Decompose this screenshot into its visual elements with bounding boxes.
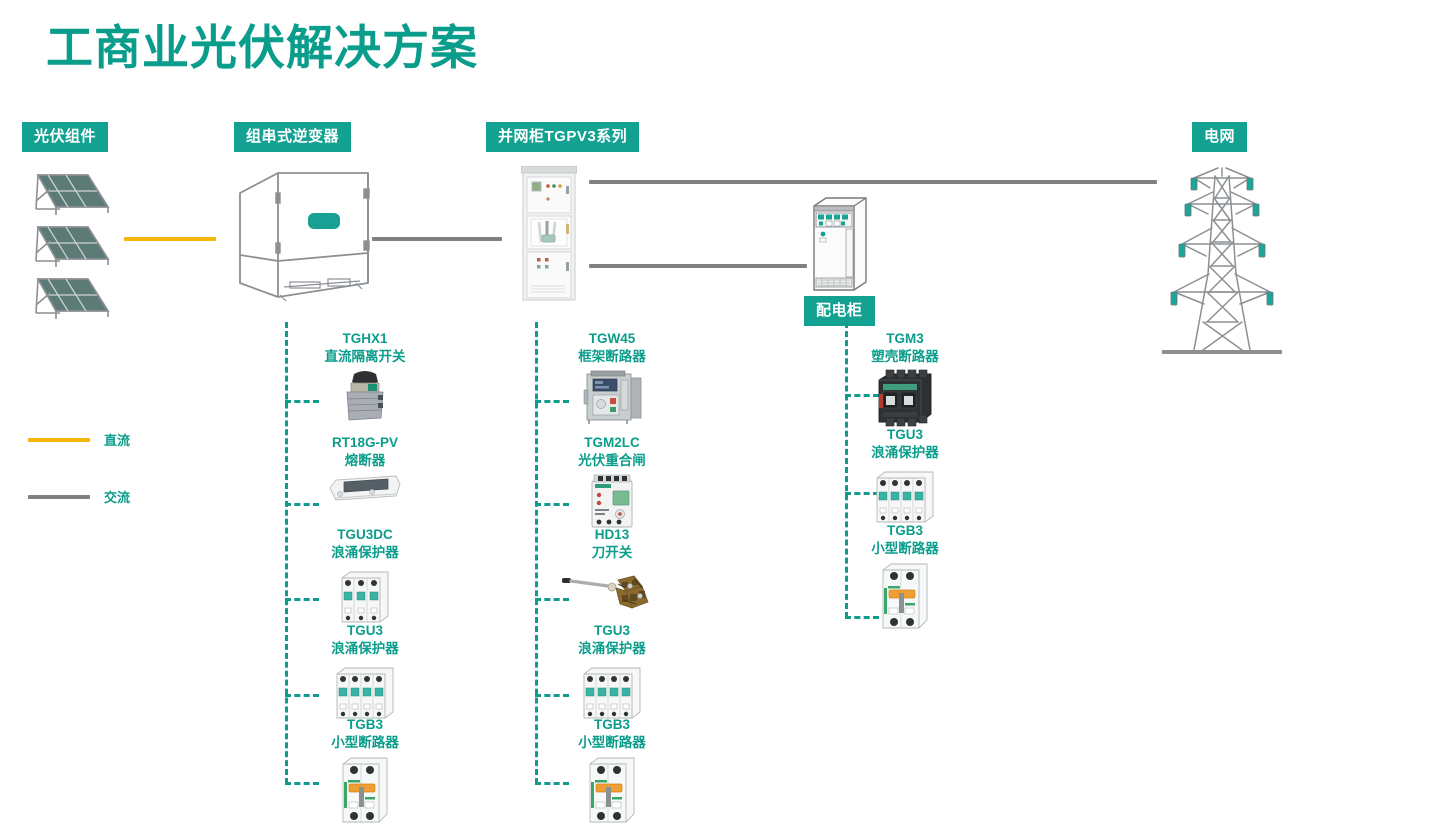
badge-power-grid: 电网 bbox=[1192, 122, 1247, 152]
inverter-icon bbox=[232, 165, 377, 305]
product-image-spd3 bbox=[280, 564, 450, 626]
transmission-tower bbox=[1160, 162, 1284, 363]
product-tgu3dc: TGU3DC 浪涌保护器 bbox=[280, 526, 450, 626]
product-tgb3: TGB3 小型断路器 bbox=[280, 716, 450, 826]
product-tgu3: TGU3 浪涌保护器 bbox=[280, 622, 450, 722]
distribution-cabinet bbox=[808, 196, 870, 297]
product-desc: 小型断路器 bbox=[820, 540, 990, 558]
product-model: RT18G-PV bbox=[280, 434, 450, 452]
product-model: TGU3 bbox=[820, 426, 990, 444]
product-desc: 小型断路器 bbox=[527, 734, 697, 752]
legend-label-ac: 交流 bbox=[104, 487, 130, 506]
product-image-spd4 bbox=[280, 660, 450, 722]
legend-label-dc: 直流 bbox=[104, 430, 130, 449]
connector-dc-pv-to-inverter bbox=[124, 237, 216, 241]
product-model: TGHX1 bbox=[280, 330, 450, 348]
product-image-mcb bbox=[280, 754, 450, 826]
product-image-spd4 bbox=[820, 464, 990, 526]
product-desc: 浪涌保护器 bbox=[280, 640, 450, 658]
connector-ac-inverter-to-gridcabinet bbox=[372, 237, 502, 241]
product-model: TGB3 bbox=[280, 716, 450, 734]
product-desc: 熔断器 bbox=[280, 452, 450, 470]
product-model: TGU3 bbox=[280, 622, 450, 640]
product-tgu3: TGU3 浪涌保护器 bbox=[527, 622, 697, 722]
product-desc: 塑壳断路器 bbox=[820, 348, 990, 366]
product-model: TGW45 bbox=[527, 330, 697, 348]
transmission-tower-icon bbox=[1160, 162, 1284, 358]
badge-string-inverter: 组串式逆变器 bbox=[234, 122, 351, 152]
product-desc: 光伏重合闸 bbox=[527, 452, 697, 470]
connector-ac-gridcabinet-to-grid bbox=[589, 180, 1157, 184]
product-tgu3: TGU3 浪涌保护器 bbox=[820, 426, 990, 526]
product-tgw45: TGW45 框架断路器 bbox=[527, 330, 697, 424]
inverter-display bbox=[308, 213, 340, 229]
product-tgm2lc: TGM2LC 光伏重合闸 bbox=[527, 434, 697, 530]
legend-swatch-dc bbox=[28, 438, 90, 442]
product-image-isolator bbox=[280, 368, 450, 426]
legend-item-dc: 直流 bbox=[28, 430, 130, 449]
product-image-fuse bbox=[280, 472, 450, 506]
legend: 直流 交流 bbox=[28, 430, 130, 506]
legend-swatch-ac bbox=[28, 495, 90, 499]
distribution-cabinet-icon bbox=[808, 196, 870, 292]
product-desc: 浪涌保护器 bbox=[527, 640, 697, 658]
badge-pv-modules: 光伏组件 bbox=[22, 122, 108, 152]
legend-item-ac: 交流 bbox=[28, 487, 130, 506]
connector-ac-gridcabinet-to-distribution bbox=[589, 264, 807, 268]
product-model: TGB3 bbox=[820, 522, 990, 540]
product-tghx1: TGHX1 直流隔离开关 bbox=[280, 330, 450, 426]
badge-grid-cabinet: 并网柜TGPV3系列 bbox=[486, 122, 639, 152]
product-image-mcb bbox=[527, 754, 697, 826]
page-title: 工商业光伏解决方案 bbox=[46, 22, 478, 74]
product-desc: 刀开关 bbox=[527, 544, 697, 562]
product-tgb3: TGB3 小型断路器 bbox=[527, 716, 697, 826]
product-hd13: HD13 刀开关 bbox=[527, 526, 697, 622]
product-model: TGB3 bbox=[527, 716, 697, 734]
product-image-recloser bbox=[527, 472, 697, 530]
product-image-mcb bbox=[820, 560, 990, 632]
product-desc: 直流隔离开关 bbox=[280, 348, 450, 366]
product-rt18g-pv: RT18G-PV 熔断器 bbox=[280, 434, 450, 506]
product-tgm3: TGM3 塑壳断路器 bbox=[820, 330, 990, 428]
product-tgb3: TGB3 小型断路器 bbox=[820, 522, 990, 632]
product-model: HD13 bbox=[527, 526, 697, 544]
string-inverter bbox=[232, 165, 377, 310]
product-model: TGU3 bbox=[527, 622, 697, 640]
product-desc: 浪涌保护器 bbox=[820, 444, 990, 462]
diagram-canvas: 工商业光伏解决方案 光伏组件 组串式逆变器 并网柜TGPV3系列 配电柜 电网 … bbox=[0, 0, 1436, 829]
pv-array-icon bbox=[22, 165, 122, 325]
product-image-mccb bbox=[820, 368, 990, 428]
grid-cabinet-icon bbox=[521, 166, 577, 302]
product-desc: 浪涌保护器 bbox=[280, 544, 450, 562]
product-image-spd4 bbox=[527, 660, 697, 722]
product-model: TGU3DC bbox=[280, 526, 450, 544]
pv-array bbox=[22, 165, 122, 330]
product-desc: 框架断路器 bbox=[527, 348, 697, 366]
product-model: TGM3 bbox=[820, 330, 990, 348]
badge-distribution-cabinet: 配电柜 bbox=[804, 296, 875, 326]
product-image-acb bbox=[527, 368, 697, 424]
grid-cabinet bbox=[521, 166, 577, 307]
product-image-knife bbox=[527, 564, 697, 622]
product-model: TGM2LC bbox=[527, 434, 697, 452]
product-desc: 小型断路器 bbox=[280, 734, 450, 752]
